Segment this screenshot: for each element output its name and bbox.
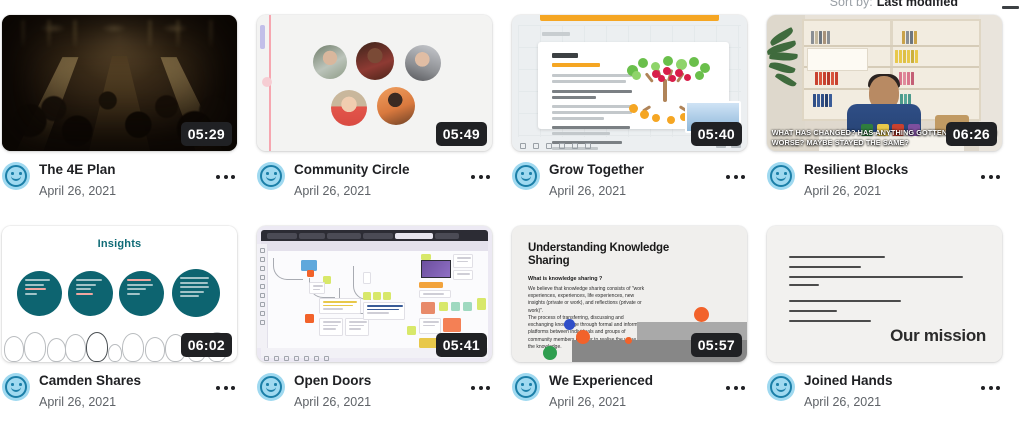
card-meta: We Experienced April 26, 2021: [512, 373, 747, 409]
video-card-grid: 05:29 The 4E Plan April 26, 2021: [2, 15, 1022, 409]
video-title[interactable]: Open Doors: [294, 373, 463, 388]
smiley-face-avatar-icon: [767, 162, 795, 190]
video-card[interactable]: Our mission Joined Hands April 26, 2021: [767, 226, 1002, 409]
video-date: April 26, 2021: [549, 184, 718, 198]
slide-heading: Understanding Knowledge Sharing: [528, 242, 687, 268]
video-card[interactable]: 05:49 Community Circle April 26, 2021: [257, 15, 492, 198]
video-title[interactable]: Resilient Blocks: [804, 162, 973, 177]
sort-control[interactable]: Sort by: Last modified: [830, 0, 958, 9]
library-toolbar: Sort by: Last modified: [830, 0, 1019, 13]
smiley-face-avatar-icon: [257, 373, 285, 401]
video-date: April 26, 2021: [294, 184, 463, 198]
list-view-icon[interactable]: [1002, 0, 1019, 9]
video-title[interactable]: The 4E Plan: [39, 162, 208, 177]
video-thumbnail[interactable]: Understanding Knowledge Sharing What is …: [512, 226, 747, 362]
video-card[interactable]: 05:40 Grow Together April 26, 2021: [512, 15, 747, 198]
card-meta: Camden Shares April 26, 2021: [2, 373, 237, 409]
duration-badge: 06:02: [181, 333, 232, 357]
duration-badge: 05:57: [691, 333, 742, 357]
video-card[interactable]: Understanding Knowledge Sharing What is …: [512, 226, 747, 409]
card-meta: Joined Hands April 26, 2021: [767, 373, 1002, 409]
duration-badge: 05:29: [181, 122, 232, 146]
duration-badge: 05:41: [436, 333, 487, 357]
smiley-face-avatar-icon: [257, 162, 285, 190]
slide-paragraph-1: We believe that knowledge sharing consis…: [528, 286, 648, 315]
sort-by-label: Sort by:: [830, 0, 873, 9]
video-title[interactable]: Joined Hands: [804, 373, 973, 388]
slide-heading: Our mission: [890, 326, 986, 346]
smiley-face-avatar-icon: [512, 373, 540, 401]
video-card[interactable]: 05:41 Open Doors April 26, 2021: [257, 226, 492, 409]
video-card[interactable]: 05:29 The 4E Plan April 26, 2021: [2, 15, 237, 198]
more-options-icon[interactable]: [979, 171, 1002, 183]
video-title[interactable]: Camden Shares: [39, 373, 208, 388]
card-meta: The 4E Plan April 26, 2021: [2, 162, 237, 198]
video-thumbnail[interactable]: 05:49: [257, 15, 492, 151]
card-meta: Community Circle April 26, 2021: [257, 162, 492, 198]
card-meta: Resilient Blocks April 26, 2021: [767, 162, 1002, 198]
video-thumbnail[interactable]: 05:40: [512, 15, 747, 151]
more-options-icon[interactable]: [724, 382, 747, 394]
more-options-icon[interactable]: [724, 171, 747, 183]
more-options-icon[interactable]: [214, 171, 237, 183]
video-thumbnail[interactable]: 05:29: [2, 15, 237, 151]
card-meta: Open Doors April 26, 2021: [257, 373, 492, 409]
our-mission-slide-artwork: Our mission: [767, 226, 1002, 362]
video-thumbnail[interactable]: Our mission: [767, 226, 1002, 362]
more-options-icon[interactable]: [469, 171, 492, 183]
video-date: April 26, 2021: [549, 395, 718, 409]
video-library-page: Sort by: Last modified: [0, 0, 1023, 442]
more-options-icon[interactable]: [979, 382, 1002, 394]
more-options-icon[interactable]: [214, 382, 237, 394]
video-card[interactable]: WHAT HAS CHANGED? HAS ANYTHING GOTTEN BE…: [767, 15, 1002, 198]
smiley-face-avatar-icon: [2, 162, 30, 190]
card-meta: Grow Together April 26, 2021: [512, 162, 747, 198]
slide-heading: Insights: [2, 238, 237, 250]
smiley-face-avatar-icon: [512, 162, 540, 190]
smiley-face-avatar-icon: [2, 373, 30, 401]
duration-badge: 05:40: [691, 122, 742, 146]
video-date: April 26, 2021: [39, 395, 208, 409]
video-thumbnail[interactable]: Insights: [2, 226, 237, 362]
plant-decoration: [767, 20, 819, 110]
video-date: April 26, 2021: [804, 184, 973, 198]
slide-question: What is knowledge sharing ?: [528, 276, 602, 282]
duration-badge: 05:49: [436, 122, 487, 146]
video-title[interactable]: Grow Together: [549, 162, 718, 177]
sort-by-value[interactable]: Last modified: [877, 0, 958, 9]
video-date: April 26, 2021: [804, 395, 973, 409]
video-thumbnail[interactable]: WHAT HAS CHANGED? HAS ANYTHING GOTTEN BE…: [767, 15, 1002, 151]
more-options-icon[interactable]: [469, 382, 492, 394]
video-date: April 26, 2021: [39, 184, 208, 198]
video-date: April 26, 2021: [294, 395, 463, 409]
video-title[interactable]: We Experienced: [549, 373, 718, 388]
video-title[interactable]: Community Circle: [294, 162, 463, 177]
smiley-face-avatar-icon: [767, 373, 795, 401]
duration-badge: 06:26: [946, 122, 997, 146]
video-card[interactable]: Insights: [2, 226, 237, 409]
video-thumbnail[interactable]: 05:41: [257, 226, 492, 362]
